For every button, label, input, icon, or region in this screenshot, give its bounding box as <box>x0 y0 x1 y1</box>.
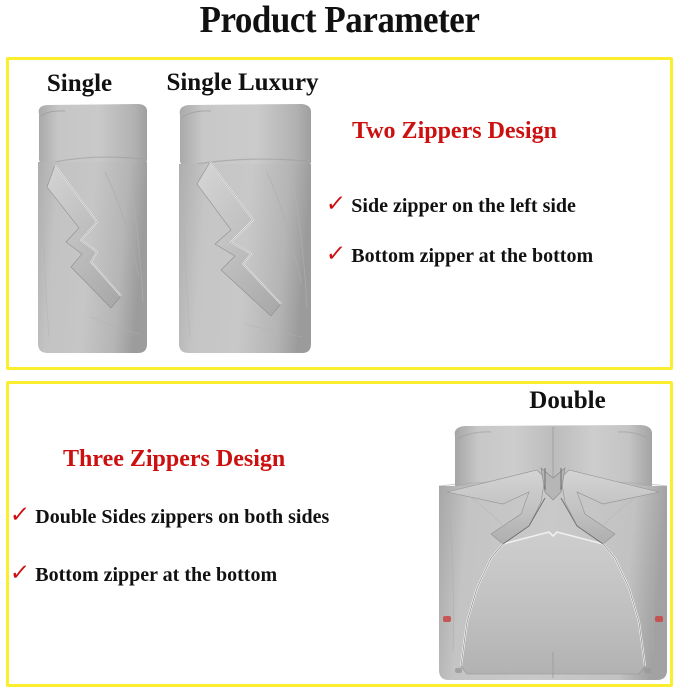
feature-bullet: ✓ Bottom zipper at the bottom <box>10 563 277 586</box>
feature-bullet-text: Double Sides zippers on both sides <box>35 507 329 527</box>
bed-label-single: Single <box>22 71 137 96</box>
bed-liner-single-luxury-icon <box>175 102 315 356</box>
feature-bullet-text: Side zipper on the left side <box>351 196 576 216</box>
check-icon: ✓ <box>9 562 31 585</box>
bed-liner-single-icon <box>35 102 150 356</box>
bed-liner-double-icon <box>433 422 673 683</box>
feature-heading-three-zippers: Three Zippers Design <box>63 447 285 471</box>
check-icon: ✓ <box>325 243 347 266</box>
page-title: Product Parameter <box>27 0 652 42</box>
feature-bullet-text: Bottom zipper at the bottom <box>35 565 277 585</box>
feature-bullet: ✓ Side zipper on the left side <box>326 194 576 217</box>
feature-heading-two-zippers: Two Zippers Design <box>352 119 557 143</box>
bed-label-double: Double <box>495 388 640 413</box>
check-icon: ✓ <box>325 193 347 216</box>
feature-bullet-text: Bottom zipper at the bottom <box>351 246 593 266</box>
feature-bullet: ✓ Double Sides zippers on both sides <box>10 505 329 528</box>
zipper-pull-left <box>443 616 451 622</box>
feature-bullet: ✓ Bottom zipper at the bottom <box>326 244 593 267</box>
zipper-pull-right <box>655 616 663 622</box>
check-icon: ✓ <box>9 504 31 527</box>
bed-label-single-luxury: Single Luxury <box>150 70 335 95</box>
